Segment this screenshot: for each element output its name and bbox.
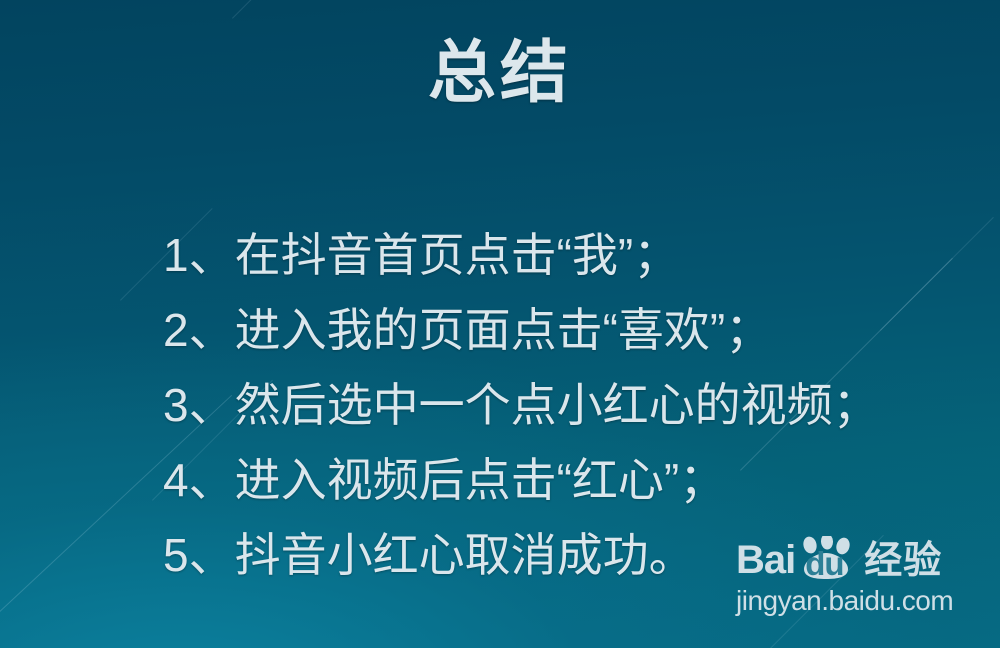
decorative-diagonal-line	[232, 0, 261, 19]
presentation-slide: 总结 1、在抖音首页点击“我”； 2、进入我的页面点击“喜欢”； 3、然后选中一…	[0, 0, 1000, 648]
page-title: 总结	[0, 36, 1000, 111]
list-item: 1、在抖音首页点击“我”；	[163, 218, 960, 293]
list-item: 4、进入视频后点击“红心”；	[163, 443, 960, 518]
list-item: 3、然后选中一个点小红心的视频；	[163, 368, 960, 443]
watermark-brand-cn: 经验	[864, 542, 942, 580]
paw-print-icon: du	[796, 536, 858, 580]
watermark-brand-du: du	[805, 547, 843, 580]
list-item: 2、进入我的页面点击“喜欢”；	[163, 293, 960, 368]
baidu-jingyan-watermark: Bai du 经验 jingyan.baidu.com	[736, 536, 986, 616]
watermark-brand-latin: Bai	[736, 540, 795, 580]
watermark-url: jingyan.baidu.com	[736, 586, 986, 616]
watermark-logo-row: Bai du 经验	[736, 536, 986, 580]
